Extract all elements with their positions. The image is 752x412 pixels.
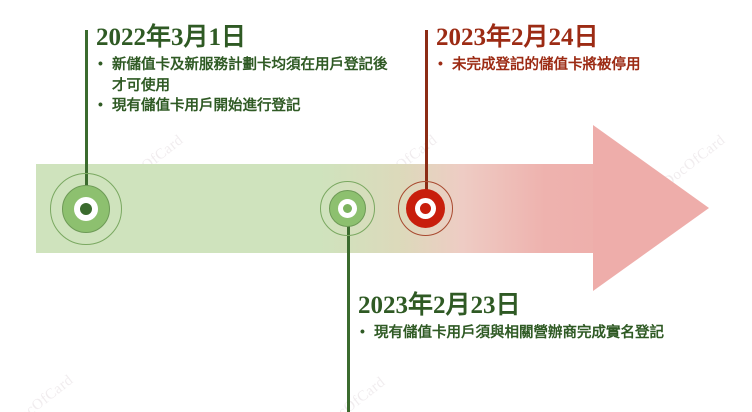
milestone-date-3: 2023年2月23日	[358, 292, 688, 319]
list-item: 新儲值卡及新服務計劃卡均須在用戶登記後才可使用	[96, 55, 396, 96]
list-item: 未完成登記的儲值卡將被停用	[436, 55, 666, 76]
list-item: 現有儲值卡用戶須與相關營辦商完成實名登記	[358, 323, 688, 344]
milestone-callout-3: 2023年2月23日 現有儲值卡用戶須與相關營辦商完成實名登記	[358, 292, 688, 344]
watermark: DocOfCard	[8, 372, 77, 412]
infographic-canvas: DocOfCard DocOfCard DocOfCard DocOfCard …	[0, 0, 752, 412]
timeline-marker-milestone-1-core	[80, 203, 92, 215]
milestone-callout-1: 2022年3月1日 新儲值卡及新服務計劃卡均須在用戶登記後才可使用 現有儲值卡用…	[96, 24, 396, 117]
milestone-bullet-list-1: 新儲值卡及新服務計劃卡均須在用戶登記後才可使用 現有儲值卡用戶開始進行登記	[96, 55, 396, 117]
milestone-date-2: 2023年2月24日	[436, 24, 666, 51]
milestone-date-1: 2022年3月1日	[96, 24, 396, 51]
connector-line-milestone-3	[347, 210, 350, 412]
milestone-callout-2: 2023年2月24日 未完成登記的儲值卡將被停用	[436, 24, 666, 76]
timeline-arrow-head-icon	[593, 125, 709, 291]
timeline-marker-milestone-3-core	[343, 204, 352, 213]
timeline-marker-milestone-2-core	[420, 203, 431, 214]
milestone-bullet-list-3: 現有儲值卡用戶須與相關營辦商完成實名登記	[358, 323, 688, 344]
list-item: 現有儲值卡用戶開始進行登記	[96, 96, 396, 117]
watermark: DocOfCard	[320, 374, 389, 412]
milestone-bullet-list-2: 未完成登記的儲值卡將被停用	[436, 55, 666, 76]
